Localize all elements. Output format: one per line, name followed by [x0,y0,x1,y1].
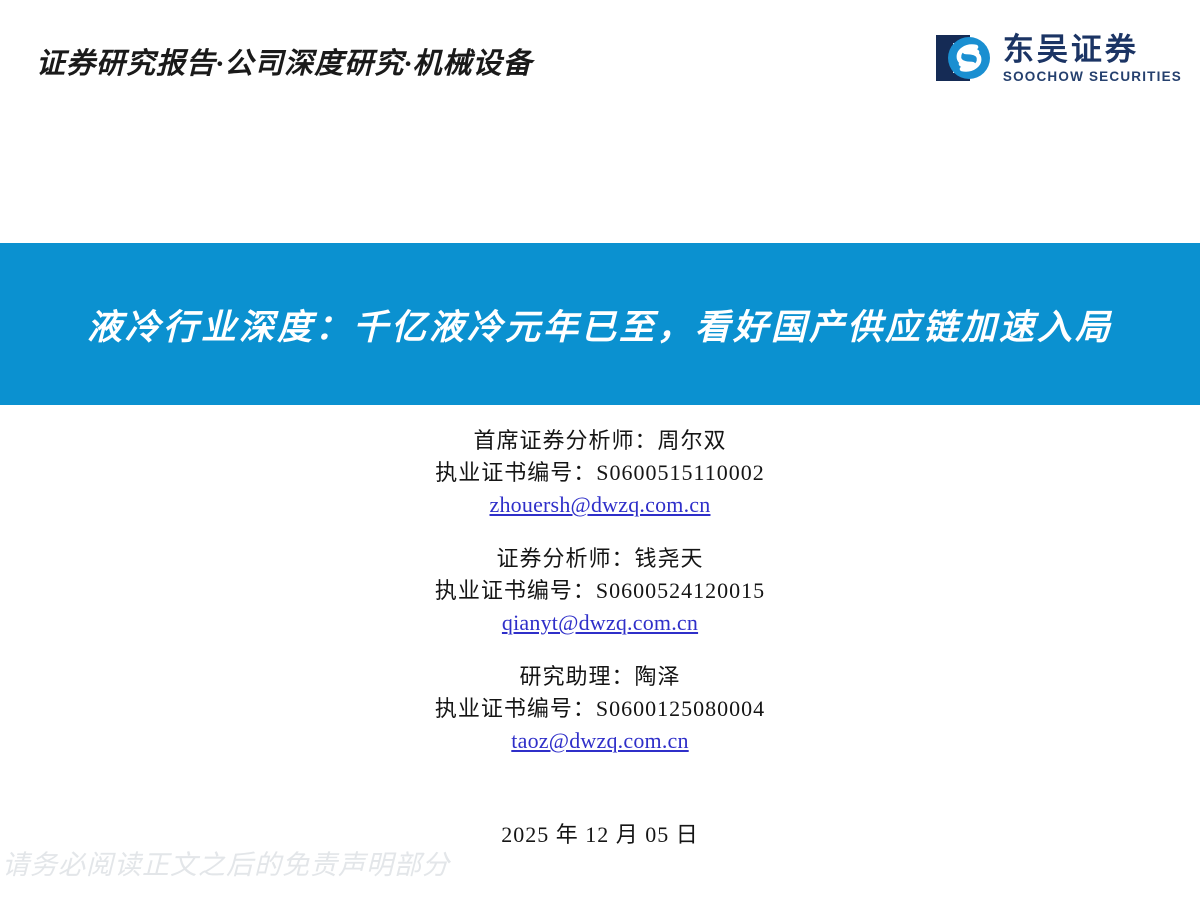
page-header: 证券研究报告·公司深度研究·机械设备 东吴证券 SOOCHOW SECURITI… [0,0,1200,120]
report-title: 液冷行业深度：千亿液冷元年已至，看好国产供应链加速入局 [0,299,1200,350]
logo-text: 东吴证券 SOOCHOW SECURITIES [1003,34,1182,84]
analyst-license: 执业证书编号：S0600524120015 [0,575,1200,607]
logo-company-en: SOOCHOW SECURITIES [1003,70,1182,84]
analyst-email-link[interactable]: taoz@dwzq.com.cn [511,725,688,757]
title-banner: 液冷行业深度：千亿液冷元年已至，看好国产供应链加速入局 [0,243,1200,405]
logo-company-cn: 东吴证券 [1003,34,1182,65]
analyst-block: 证券分析师：钱尧天 执业证书编号：S0600524120015 qianyt@d… [0,543,1200,639]
analyst-role-name: 研究助理：陶泽 [0,661,1200,693]
soochow-s-mark-icon [936,33,994,85]
analyst-email-link[interactable]: zhouersh@dwzq.com.cn [490,489,711,521]
company-logo: 东吴证券 SOOCHOW SECURITIES [936,30,1182,88]
analyst-block: 研究助理：陶泽 执业证书编号：S0600125080004 taoz@dwzq.… [0,661,1200,757]
analyst-role-name: 证券分析师：钱尧天 [0,543,1200,575]
analyst-list: 首席证券分析师：周尔双 执业证书编号：S0600515110002 zhouer… [0,425,1200,757]
analyst-license: 执业证书编号：S0600515110002 [0,457,1200,489]
analyst-block: 首席证券分析师：周尔双 执业证书编号：S0600515110002 zhouer… [0,425,1200,521]
analyst-role-name: 首席证券分析师：周尔双 [0,425,1200,457]
disclaimer-footer: 请务必阅读正文之后的免责声明部分 [2,843,450,882]
analyst-email-link[interactable]: qianyt@dwzq.com.cn [502,607,698,639]
breadcrumb: 证券研究报告·公司深度研究·机械设备 [36,40,533,82]
analyst-license: 执业证书编号：S0600125080004 [0,693,1200,725]
